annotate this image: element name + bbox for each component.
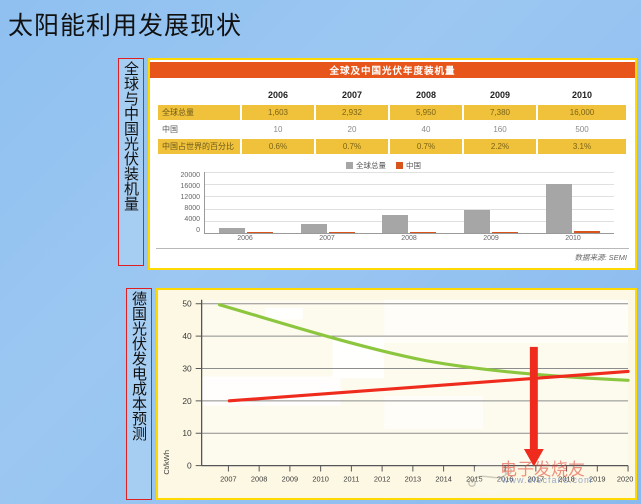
- top-section-side-label: 全球与中国光伏装机量: [118, 58, 144, 266]
- table-col-2006: 2006: [242, 88, 314, 103]
- page-title: 太阳能利用发展现状: [8, 6, 242, 42]
- bar-chart-y-axis: 20000 16000 12000 8000 4000 0: [168, 172, 200, 234]
- cell-global-2009: 7,380: [464, 105, 536, 120]
- xtick-2010: 2010: [312, 474, 329, 483]
- row-label-china: 中国: [158, 122, 240, 137]
- cost-forecast-line-chart: 50 40 30 20 10 0 2007 2008 2009 2010 201…: [158, 290, 635, 498]
- xtick-2008: 2008: [251, 474, 268, 483]
- legend-label-global: 全球总量: [356, 160, 386, 171]
- top-side-label-text: 全球与中国光伏装机量: [123, 61, 139, 211]
- xtick-2014: 2014: [435, 474, 452, 483]
- xtick-2010: 2010: [532, 235, 614, 242]
- source-divider: [156, 248, 629, 249]
- table-row: 中国占世界的百分比 0.6% 0.7% 0.7% 2.2% 3.1%: [158, 139, 626, 154]
- ytick-40: 40: [182, 331, 192, 341]
- bar-group-2008: [369, 172, 451, 233]
- bar-group-2006: [205, 172, 287, 233]
- bar-china-2010: [574, 231, 600, 233]
- xtick-2016: 2016: [497, 474, 514, 483]
- legend-item-global: 全球总量: [346, 160, 386, 171]
- cost-forecast-panel: 50 40 30 20 10 0 2007 2008 2009 2010 201…: [156, 288, 637, 500]
- cell-china-2009: 160: [464, 122, 536, 137]
- bar-china-2008: [410, 232, 436, 233]
- ytick-10: 10: [182, 428, 192, 438]
- cell-china-2007: 20: [316, 122, 388, 137]
- capacity-table: 2006 2007 2008 2009 2010 全球总量 1,603 2,93…: [156, 86, 628, 156]
- table-col-2008: 2008: [390, 88, 462, 103]
- bar-global-2010: [546, 184, 572, 233]
- bar-group-2009: [450, 172, 532, 233]
- bar-group-2010: [532, 172, 614, 233]
- xtick-2017: 2017: [528, 474, 545, 483]
- xtick-2020: 2020: [617, 474, 634, 483]
- cell-share-2008: 0.7%: [390, 139, 462, 154]
- legend-item-china: 中国: [396, 160, 421, 171]
- bar-global-2008: [382, 215, 408, 233]
- bar-group-2007: [287, 172, 369, 233]
- ytick-0: 0: [196, 227, 200, 234]
- table-row: 全球总量 1,603 2,932 5,950 7,380 16,000: [158, 105, 626, 120]
- xtick-2008: 2008: [368, 235, 450, 242]
- table-row: 中国 10 20 40 160 500: [158, 122, 626, 137]
- scan-artifact: [265, 308, 303, 320]
- bottom-side-label-text: 德国光伏发电成本预测: [131, 291, 147, 441]
- bar-global-2006: [219, 228, 245, 233]
- xtick-2009: 2009: [282, 474, 299, 483]
- bottom-section-side-label: 德国光伏发电成本预测: [126, 288, 152, 500]
- bar-global-2007: [301, 224, 327, 233]
- xtick-2007: 2007: [220, 474, 237, 483]
- cell-china-2008: 40: [390, 122, 462, 137]
- cell-china-2006: 10: [242, 122, 314, 137]
- ytick-4000: 4000: [184, 216, 200, 223]
- bar-series-container: [205, 172, 614, 233]
- xtick-2013: 2013: [405, 474, 422, 483]
- installed-capacity-bar-chart: 20000 16000 12000 8000 4000 0: [168, 172, 618, 244]
- cell-share-2009: 2.2%: [464, 139, 536, 154]
- table-col-2010: 2010: [538, 88, 626, 103]
- table-corner-cell: [158, 88, 240, 103]
- cell-global-2010: 16,000: [538, 105, 626, 120]
- source-note: 数据来源: SEMI: [574, 252, 627, 263]
- cell-share-2010: 3.1%: [538, 139, 626, 154]
- ytick-12000: 12000: [181, 194, 200, 201]
- table-col-2009: 2009: [464, 88, 536, 103]
- ytick-20: 20: [182, 396, 192, 406]
- ytick-20000: 20000: [181, 172, 200, 179]
- bar-china-2006: [247, 232, 273, 233]
- xtick-2015: 2015: [466, 474, 483, 483]
- row-label-share: 中国占世界的百分比: [158, 139, 240, 154]
- xtick-2011: 2011: [343, 474, 359, 483]
- ytick-0: 0: [187, 461, 192, 471]
- xtick-2012: 2012: [374, 474, 391, 483]
- installed-capacity-panel: 全球及中国光伏年度装机量 2006 2007 2008 2009 2010 全球…: [148, 58, 637, 270]
- bar-chart-plot-area: [204, 172, 614, 234]
- cell-global-2007: 2,932: [316, 105, 388, 120]
- bar-china-2009: [492, 232, 518, 233]
- table-col-2007: 2007: [316, 88, 388, 103]
- ytick-16000: 16000: [181, 183, 200, 190]
- xtick-2006: 2006: [204, 235, 286, 242]
- bar-global-2009: [464, 210, 490, 233]
- cell-china-2010: 500: [538, 122, 626, 137]
- cell-global-2008: 5,950: [390, 105, 462, 120]
- bar-china-2007: [329, 232, 355, 233]
- legend-label-china: 中国: [406, 160, 421, 171]
- row-label-global: 全球总量: [158, 105, 240, 120]
- y-axis-unit-label: Ct/kWh: [162, 450, 171, 475]
- xtick-2018: 2018: [558, 474, 575, 483]
- xtick-2007: 2007: [286, 235, 368, 242]
- legend-swatch-china: [396, 162, 403, 169]
- ytick-8000: 8000: [184, 205, 200, 212]
- xtick-2009: 2009: [450, 235, 532, 242]
- cell-global-2006: 1,603: [242, 105, 314, 120]
- xtick-2019: 2019: [589, 474, 606, 483]
- ytick-50: 50: [182, 299, 192, 309]
- table-header-row: 2006 2007 2008 2009 2010: [158, 88, 626, 103]
- table-header-bar: 全球及中国光伏年度装机量: [150, 62, 635, 78]
- cell-share-2006: 0.6%: [242, 139, 314, 154]
- bar-chart-x-axis: 2006 2007 2008 2009 2010: [204, 235, 614, 242]
- ytick-30: 30: [182, 363, 192, 373]
- bar-chart-legend: 全球总量 中国: [346, 160, 421, 171]
- cell-share-2007: 0.7%: [316, 139, 388, 154]
- legend-swatch-global: [346, 162, 353, 169]
